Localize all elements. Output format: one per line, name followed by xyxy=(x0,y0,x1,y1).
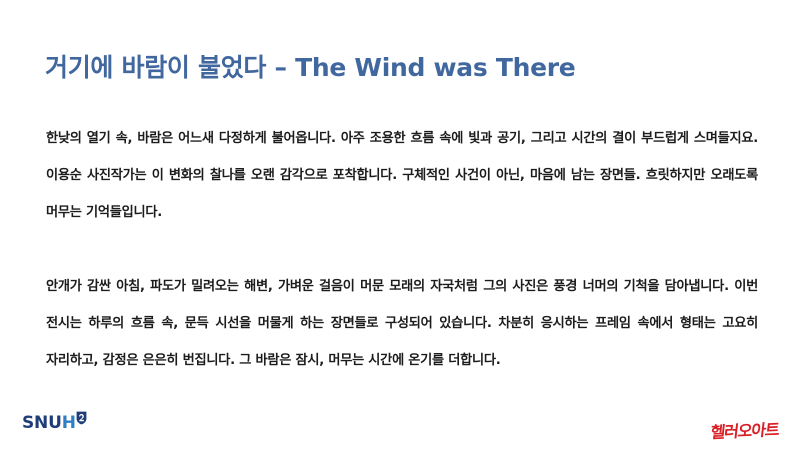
snuh-logo: SNU H xyxy=(22,412,87,434)
snuh-logo-accent-text: H xyxy=(62,415,76,432)
body-paragraph: 한낮의 열기 속, 바람은 어느새 다정하게 불어옵니다. 아주 조용한 흐름 … xyxy=(46,120,758,231)
shield-icon xyxy=(76,410,87,429)
presentation-slide: 거기에 바람이 불었다 – The Wind was There 한낮의 열기 … xyxy=(0,0,800,450)
body-paragraph: 안개가 감싼 아침, 파도가 밀려오는 해변, 가벼운 걸음이 머문 모래의 자… xyxy=(46,268,758,379)
slide-body: 한낮의 열기 속, 바람은 어느새 다정하게 불어옵니다. 아주 조용한 흐름 … xyxy=(46,120,758,379)
partner-logo: 헬러오아트 xyxy=(710,422,780,441)
snuh-logo-primary-text: SNU xyxy=(22,415,62,432)
slide-title: 거기에 바람이 불었다 – The Wind was There xyxy=(45,53,765,83)
